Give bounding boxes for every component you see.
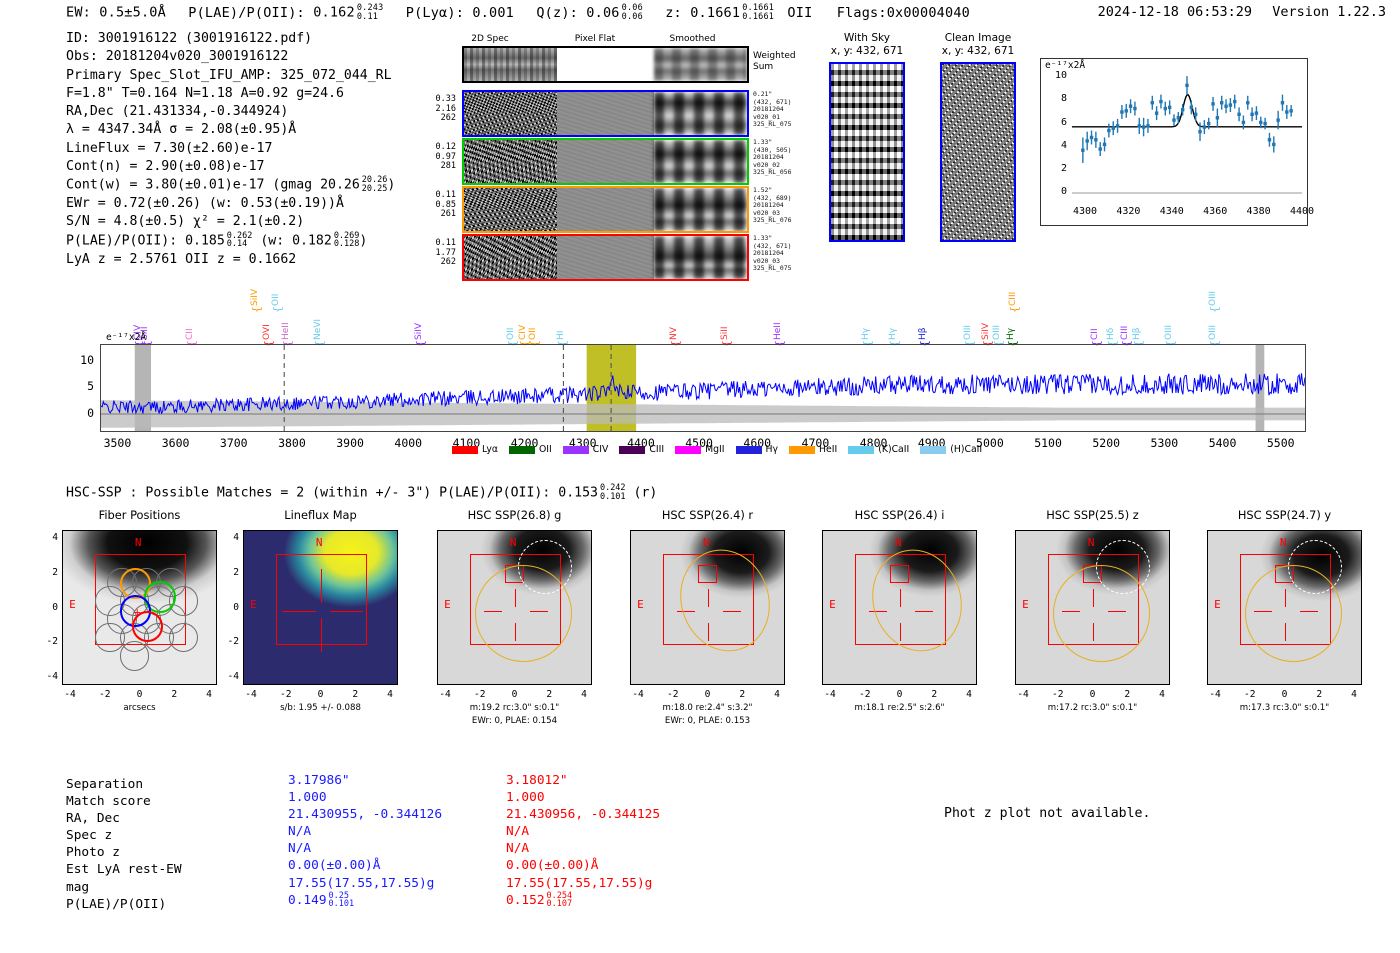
compass-e: E — [69, 598, 76, 611]
clean-image — [940, 62, 1016, 242]
fullspec-x-tick: 5400 — [1200, 436, 1246, 450]
legend-item: MgII — [675, 444, 724, 455]
info-radec: RA,Dec (21.431334,-0.344924) — [66, 103, 395, 121]
version: Version 1.22.3 — [1272, 4, 1386, 20]
fiber-row: 0.110.852611.52"(432, 689)20181204v020_0… — [420, 186, 755, 233]
match-table-column-2: 3.18012"1.00021.430956, -0.344125N/AN/A0… — [506, 772, 660, 909]
emission-line-label: Hβ — [918, 296, 928, 340]
cutout-image[interactable]: N E — [243, 530, 398, 685]
compass-e: E — [250, 598, 257, 611]
info-id: ID: 3001916122 (3001916122.pdf) — [66, 30, 395, 48]
emission-line-label: NeVI — [313, 296, 323, 340]
match-table-label: Spec z — [66, 827, 182, 844]
fiber-row-meta: 1.33"(432, 671)20181204v020_03325_RL_075 — [753, 235, 813, 273]
match-table-label: P(LAE)/P(OII) — [66, 896, 182, 913]
cutout-y-tick: 2 — [221, 567, 239, 578]
fullspec-x-tick: 3800 — [269, 436, 315, 450]
cutout-x-tick: 0 — [1085, 689, 1101, 700]
emission-line-label: OII — [528, 296, 538, 340]
match-table-value: 17.55(17.55,17.55)g — [506, 875, 660, 892]
detection-info-block: ID: 3001916122 (3001916122.pdf) Obs: 201… — [66, 30, 395, 269]
match-table-label: mag — [66, 879, 182, 896]
linefit-x-tick: 4300 — [1062, 206, 1108, 217]
cutout-x-tick: 0 — [1277, 689, 1293, 700]
legend-item: HeII — [789, 444, 837, 455]
compass-n: N — [316, 536, 323, 549]
header-ew: EW: 0.5±5.0Å — [66, 5, 166, 21]
cutout-x-tick: 0 — [892, 689, 908, 700]
emission-line-brace: { — [250, 306, 263, 313]
cutout-caption: m:17.2 rc:3.0" s:0.1" — [985, 703, 1200, 713]
header-flags: Flags:0x00004040 — [837, 5, 970, 21]
fiber-cutout-image — [462, 186, 749, 233]
info-lambda-sigma: λ = 4347.34Å σ = 2.08(±0.95)Å — [66, 121, 395, 139]
info-ewr: EWr = 0.72(±0.26) (w: 0.53(±0.19))Å — [66, 195, 395, 213]
fullspec-x-tick: 5100 — [1025, 436, 1071, 450]
line-fit-plot: e⁻¹⁷x2Å 0246810 430043204340436043804400 — [1040, 58, 1308, 226]
match-table-value: 1.000 — [288, 789, 442, 806]
header-timestamp-version: 2024-12-18 06:53:29 Version 1.22.3 — [1098, 4, 1386, 20]
legend-item: CIII — [619, 444, 664, 455]
linefit-y-tick: 0 — [1045, 186, 1067, 197]
cutout-x-tick: 4 — [961, 689, 977, 700]
match-table-value: N/A — [506, 823, 660, 840]
match-table-value: N/A — [288, 823, 442, 840]
legend-item: CIV — [563, 444, 609, 455]
cutout-x-tick: 2 — [541, 689, 557, 700]
fiber-row-stats: 0.120.97281 — [420, 143, 456, 172]
match-table-label: Match score — [66, 793, 182, 810]
emission-line-label: Hγ — [888, 296, 898, 340]
linefit-x-tick: 4380 — [1236, 206, 1282, 217]
spectrum-axes — [100, 344, 1306, 432]
header-z: z: 0.1661 — [665, 5, 740, 21]
cutout-title: HSC SSP(26.4) r — [610, 508, 805, 522]
cutout-y-tick: 4 — [40, 532, 58, 543]
cutout-x-tick: 0 — [700, 689, 716, 700]
emission-line-label: HeII — [773, 296, 783, 340]
fullspec-x-tick: 4000 — [385, 436, 431, 450]
col-title-smoothed: Smoothed — [645, 34, 740, 44]
cutout-x-tick: -4 — [822, 689, 838, 700]
fullspec-y-tick: 10 — [72, 353, 94, 367]
cutout-x-tick: 4 — [1346, 689, 1362, 700]
legend-swatch — [736, 446, 762, 454]
cutout-image[interactable]: NE — [437, 530, 592, 685]
legend-label: OII — [539, 444, 552, 455]
fullspec-x-tick: 3500 — [94, 436, 140, 450]
compass-n: N — [510, 536, 517, 549]
fiber-row: 0.111.772621.33"(432, 671)20181204v020_0… — [420, 234, 755, 281]
header-z-range: 0.16610.1661 — [742, 4, 774, 21]
emission-line-label: OIII — [1164, 296, 1174, 340]
header-plya: P(Lyα): 0.001 — [406, 5, 514, 21]
full-spectrum-panel: CIV{SiII{CII{OVI{HeII{SiIV{OII{NeVI{SiIV… — [92, 278, 1306, 453]
info-plae-range: 0.2620.14 — [227, 232, 253, 249]
cutout-title: Lineflux Map — [223, 508, 418, 522]
emission-line-label: Hγ — [1006, 296, 1016, 340]
linefit-y-tick: 4 — [1045, 140, 1067, 151]
fullspec-x-tick: 3700 — [211, 436, 257, 450]
cutout-image[interactable]: NE — [1015, 530, 1170, 685]
emission-line-label: HeII — [281, 296, 291, 340]
fiber-cutout-image — [462, 90, 749, 137]
cutout-caption: m:19.2 rc:3.0" s:0.1" — [407, 703, 622, 713]
match-table-value: 0.00(±0.00)Å — [288, 857, 442, 874]
compass-n: N — [703, 536, 710, 549]
cutout-x-tick: 4 — [201, 689, 217, 700]
match-table-labels: SeparationMatch scoreRA, DecSpec zPhoto … — [66, 776, 182, 913]
match-table-label: RA, Dec — [66, 810, 182, 827]
emission-line-label: OIII — [963, 296, 973, 340]
compass-e: E — [444, 598, 451, 611]
emission-line-label: SiIV — [250, 262, 260, 306]
emission-line-label: NV — [669, 296, 679, 340]
emission-line-label: Hγ — [861, 296, 871, 340]
emission-line-label: CII — [185, 296, 195, 340]
fullspec-x-tick: 5300 — [1141, 436, 1187, 450]
match-table-value: 21.430955, -0.344126 — [288, 806, 442, 823]
cutout-x-tick: -4 — [437, 689, 453, 700]
match-table-value: 3.18012" — [506, 772, 660, 789]
match-table-value: 21.430956, -0.344125 — [506, 806, 660, 823]
cutout-caption: EWr: 0, PLAE: 0.154 — [407, 716, 622, 726]
fiber-row-meta: 0.21"(432, 671)20181204v020_01325_RL_075 — [753, 91, 813, 129]
match-table-value: N/A — [288, 840, 442, 857]
legend-item: (K)CaII — [848, 444, 909, 455]
photoz-note: Phot z plot not available. — [944, 806, 1150, 821]
emission-line-brace: { — [1208, 306, 1221, 313]
legend-item: OII — [509, 444, 552, 455]
emission-line-label: OIII — [1208, 262, 1218, 306]
cutout-x-tick: 4 — [576, 689, 592, 700]
emission-line-label: SiII — [720, 296, 730, 340]
cutout-x-tick: -2 — [472, 689, 488, 700]
fiber-row-meta: 1.33"(430, 505)20181204v020_02325_RL_056 — [753, 139, 813, 177]
cutout-x-tick: 2 — [926, 689, 942, 700]
legend-label: HeII — [819, 444, 837, 455]
compass-n: N — [1088, 536, 1095, 549]
cutout-x-tick: 2 — [734, 689, 750, 700]
emission-line-label: OIII — [992, 296, 1002, 340]
match-table-value: 3.17986" — [288, 772, 442, 789]
match-table-label: Separation — [66, 776, 182, 793]
cutout-x-tick: -4 — [630, 689, 646, 700]
info-seeing: F=1.8" T=0.164 N=1.18 A=0.92 g=24.6 — [66, 85, 395, 103]
weighted-sum-label: Weighted Sum — [753, 51, 796, 72]
cutout-caption: m:17.3 rc:3.0" s:0.1" — [1177, 703, 1392, 713]
compass-n: N — [135, 536, 142, 549]
header-z-kind: OII — [787, 5, 812, 21]
match-table-label: Photo z — [66, 844, 182, 861]
clean-image-title: Clean Imagex, y: 432, 671 — [918, 32, 1038, 57]
match-table-value: 1.000 — [506, 789, 660, 806]
fullspec-units-label: e⁻¹⁷x2Å — [106, 332, 146, 343]
header-summary-line: EW: 0.5±5.0Å P(LAE)/P(OII): 0.1620.2430.… — [66, 4, 970, 21]
cutout-x-tick: -2 — [665, 689, 681, 700]
match-table-value: N/A — [506, 840, 660, 857]
fiber-row: 0.332.162620.21"(432, 671)20181204v020_0… — [420, 90, 755, 137]
legend-item: (H)CaII — [920, 444, 982, 455]
legend-label: Hγ — [766, 444, 779, 455]
cutout-y-tick: 0 — [40, 602, 58, 613]
match-table-value: 0.1520.2540.107 — [506, 892, 660, 909]
cutout-y-tick: -2 — [40, 636, 58, 647]
legend-label: (H)CaII — [950, 444, 982, 455]
cutout-x-tick: -4 — [1207, 689, 1223, 700]
linefit-x-tick: 4360 — [1192, 206, 1238, 217]
cutout-y-tick: 2 — [40, 567, 58, 578]
legend-label: CIV — [593, 444, 609, 455]
cutout-x-tick: -2 — [278, 689, 294, 700]
cutout-title: HSC SSP(24.7) y — [1187, 508, 1382, 522]
cutout-y-tick: -4 — [40, 671, 58, 682]
linefit-y-tick: 6 — [1045, 117, 1067, 128]
match-table-value: 0.00(±0.00)Å — [506, 857, 660, 874]
hsc-ssp-header: HSC-SSP : Possible Matches = 2 (within +… — [66, 484, 657, 501]
fullspec-x-tick: 5200 — [1083, 436, 1129, 450]
timestamp: 2024-12-18 06:53:29 — [1098, 4, 1252, 20]
fullspec-x-tick: 3600 — [153, 436, 199, 450]
legend-swatch — [452, 446, 478, 454]
info-cont-w: Cont(w) = 3.80(±0.01)e-17 (gmag 20.2620.… — [66, 176, 395, 195]
cutout-title: HSC SSP(26.8) g — [417, 508, 612, 522]
fiber-row-stats: 0.110.85261 — [420, 191, 456, 220]
legend-label: CIII — [649, 444, 664, 455]
cutout-x-tick: -2 — [97, 689, 113, 700]
cutout-y-tick: 0 — [221, 602, 239, 613]
fullspec-x-tick: 3900 — [327, 436, 373, 450]
cutout-image-row: Fiber Positions+NE-4-4-2-2002244arcsecsL… — [0, 508, 1400, 738]
cutout-x-tick: 4 — [382, 689, 398, 700]
legend-label: MgII — [705, 444, 724, 455]
fiber-cutout-image — [462, 138, 749, 185]
emission-line-label: Hδ — [1106, 296, 1116, 340]
fullspec-x-tick: 5500 — [1258, 436, 1304, 450]
linefit-x-tick: 4320 — [1105, 206, 1151, 217]
cutout-x-tick: 0 — [313, 689, 329, 700]
cutout-image[interactable]: NE — [630, 530, 785, 685]
linefit-x-tick: 4400 — [1279, 206, 1325, 217]
compass-n: N — [1280, 536, 1287, 549]
linefit-x-tick: 4340 — [1149, 206, 1195, 217]
compass-e: E — [829, 598, 836, 611]
compass-e: E — [1214, 598, 1221, 611]
header-plae-range: 0.2430.11 — [357, 4, 384, 21]
emission-line-label: SiIV — [981, 296, 991, 340]
info-gmag-range: 20.2620.25 — [362, 176, 388, 193]
col-title-2dspec: 2D Spec — [450, 34, 530, 44]
info-lineflux: LineFlux = 7.30(±2.60)e-17 — [66, 140, 395, 158]
fullspec-y-tick: 0 — [72, 406, 94, 420]
emission-line-brace: { — [271, 306, 284, 313]
cutout-x-tick: 0 — [132, 689, 148, 700]
emission-line-label: CIV — [518, 296, 528, 340]
cutout-caption: m:18.1 re:2.5" s:2.6" — [792, 703, 1007, 713]
match-table-value: 0.1490.250.101 — [288, 892, 442, 909]
fiber-row-meta: 1.52"(432, 689)20181204v020_03325_RL_076 — [753, 187, 813, 225]
compass-e: E — [637, 598, 644, 611]
header-plae-value: 0.162 — [313, 5, 355, 21]
cutout-image[interactable]: NE — [822, 530, 977, 685]
compass-e: E — [1022, 598, 1029, 611]
emission-line-labels: CIV{SiII{CII{OVI{HeII{SiIV{OII{NeVI{SiIV… — [92, 278, 1306, 344]
cutout-x-tick: -2 — [857, 689, 873, 700]
match-table-label: Est LyA rest-EW — [66, 861, 182, 878]
emission-line-label: SiIV — [414, 296, 424, 340]
cutout-caption: m:18.0 re:2.4" s:3.2" — [600, 703, 815, 713]
emission-line-label: HI — [556, 296, 566, 340]
fiber-cutout-image — [462, 234, 749, 281]
line-fit-svg — [1040, 58, 1308, 226]
cutout-y-tick: 4 — [221, 532, 239, 543]
cutout-caption: EWr: 0, PLAE: 0.153 — [600, 716, 815, 726]
legend-swatch — [509, 446, 535, 454]
info-plae: P(LAE)/P(OII): 0.1850.2620.14 (w: 0.1820… — [66, 232, 395, 251]
legend-swatch — [920, 446, 946, 454]
with-sky-image — [829, 62, 905, 242]
cutout-x-tick: 2 — [347, 689, 363, 700]
legend-swatch — [563, 446, 589, 454]
match-table-column-1: 3.17986"1.00021.430955, -0.344126N/AN/A0… — [288, 772, 442, 909]
info-cont-n: Cont(n) = 2.90(±0.08)e-17 — [66, 158, 395, 176]
cutout-y-tick: -2 — [221, 636, 239, 647]
header-plae-label: P(LAE)/P(OII): — [188, 5, 305, 21]
cutout-image[interactable]: NE — [1207, 530, 1362, 685]
emission-line-label: OII — [271, 262, 281, 306]
col-title-pixelflat: Pixel Flat — [550, 34, 640, 44]
info-primary-spec: Primary Spec_Slot_IFU_AMP: 325_072_044_R… — [66, 67, 395, 85]
legend-swatch — [675, 446, 701, 454]
cutout-x-tick: -4 — [62, 689, 78, 700]
weighted-sum-image — [462, 46, 749, 83]
emission-line-label: OII — [506, 296, 516, 340]
fiber-row: 0.120.972811.33"(430, 505)20181204v020_0… — [420, 138, 755, 185]
emission-line-label: Hβ — [1132, 296, 1142, 340]
header-qz: Q(z): 0.06 — [536, 5, 619, 21]
cutout-caption: s/b: 1.95 +/- 0.088 — [213, 703, 428, 713]
legend-label: (K)CaII — [878, 444, 909, 455]
emission-line-label: CIII — [1120, 296, 1130, 340]
match-table-value: 17.55(17.55,17.55)g — [288, 875, 442, 892]
spectrum-legend: LyαOIICIVCIIIMgIIHγHeII(K)CaII(H)CaII — [452, 444, 982, 455]
cutout-title: HSC SSP(25.5) z — [995, 508, 1190, 522]
info-obs: Obs: 20181204v020_3001916122 — [66, 48, 395, 66]
linefit-y-tick: 2 — [1045, 163, 1067, 174]
hsc-plae-range: 0.2420.101 — [600, 484, 626, 501]
legend-swatch — [848, 446, 874, 454]
cutout-x-tick: 2 — [1311, 689, 1327, 700]
legend-item: Hγ — [736, 444, 779, 455]
fiber-row-stats: 0.111.77262 — [420, 239, 456, 268]
cutout-title: Fiber Positions — [42, 508, 237, 522]
info-sn-chi2: S/N = 4.8(±0.5) χ² = 2.1(±0.2) — [66, 213, 395, 231]
cutout-x-tick: -2 — [1242, 689, 1258, 700]
cutout-x-tick: 2 — [166, 689, 182, 700]
info-redshifts: LyA z = 2.5761 OII z = 0.1662 — [66, 251, 395, 269]
compass-n: N — [895, 536, 902, 549]
legend-item: Lyα — [452, 444, 498, 455]
emission-line-label: CII — [1090, 296, 1100, 340]
fiber-row-stats: 0.332.16262 — [420, 95, 456, 124]
legend-label: Lyα — [482, 444, 498, 455]
legend-swatch — [789, 446, 815, 454]
cutout-x-tick: 0 — [507, 689, 523, 700]
cutout-x-tick: 2 — [1119, 689, 1135, 700]
cutout-y-tick: -4 — [221, 671, 239, 682]
cutout-x-tick: -4 — [243, 689, 259, 700]
info-plae-w-range: 0.2690.128 — [334, 232, 360, 249]
fullspec-y-tick: 5 — [72, 379, 94, 393]
cutout-x-tick: 4 — [1154, 689, 1170, 700]
with-sky-title: With Skyx, y: 432, 671 — [812, 32, 922, 57]
cutout-x-tick: -4 — [1015, 689, 1031, 700]
linefit-y-tick: 10 — [1045, 70, 1067, 81]
legend-swatch — [619, 446, 645, 454]
header-qz-range: 0.060.06 — [622, 4, 643, 21]
cutout-title: HSC SSP(26.4) i — [802, 508, 997, 522]
cutout-x-tick: -2 — [1050, 689, 1066, 700]
cutout-x-tick: 4 — [769, 689, 785, 700]
cutout-image[interactable]: +NE — [62, 530, 217, 685]
linefit-y-tick: 8 — [1045, 93, 1067, 104]
